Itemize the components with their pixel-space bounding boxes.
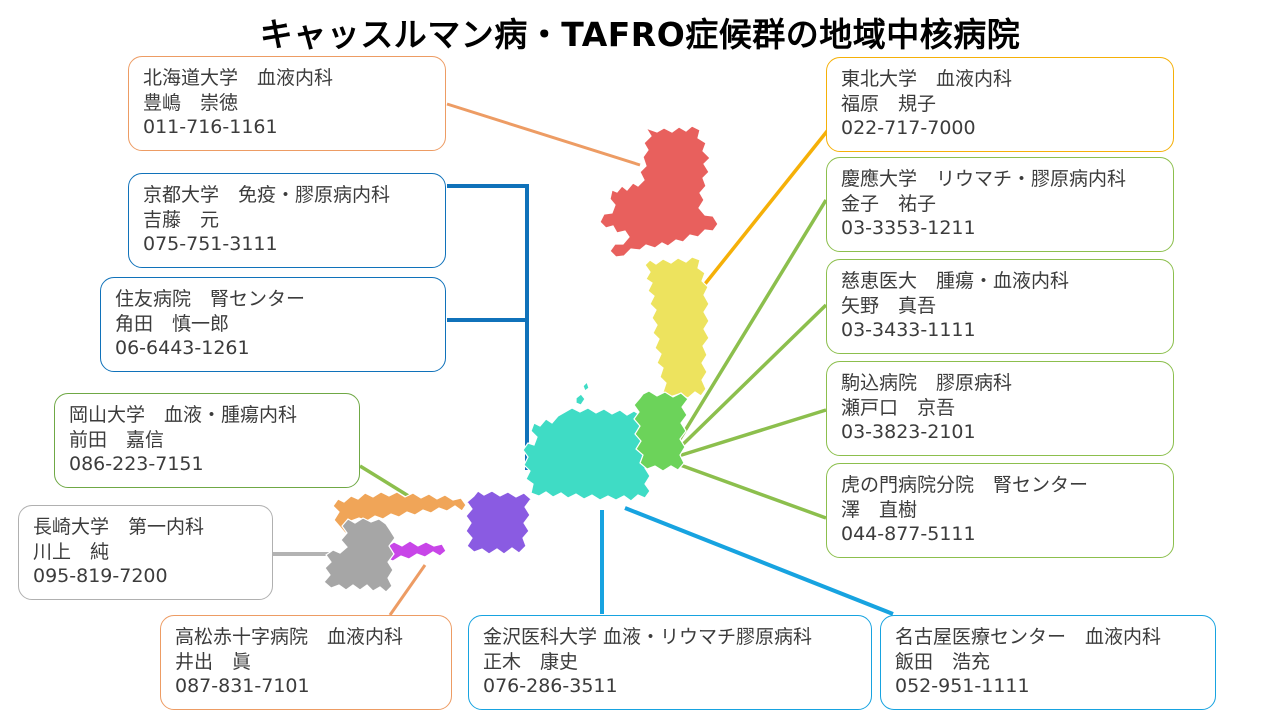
hospital-institution: 駒込病院 膠原病科 [841, 371, 1159, 396]
hospital-card-keio[interactable]: 慶應大学 リウマチ・膠原病内科 金子 祐子 03-3353-1211 [826, 157, 1174, 252]
connector-hokudai [447, 104, 640, 165]
hospital-tel: 076-286-3511 [483, 674, 857, 699]
hospital-doctor: 飯田 浩充 [895, 650, 1201, 675]
hospital-card-jikei[interactable]: 慈恵医大 腫瘍・血液内科 矢野 真吾 03-3433-1111 [826, 259, 1174, 354]
hospital-doctor: 矢野 真吾 [841, 294, 1159, 319]
hospital-doctor: 前田 嘉信 [69, 428, 345, 453]
hospital-tel: 087-831-7101 [175, 674, 437, 699]
hospital-card-sumitomo[interactable]: 住友病院 腎センター 角田 慎一郎 06-6443-1261 [100, 277, 446, 372]
region-kinki [466, 491, 531, 554]
hospital-tel: 075-751-3111 [143, 232, 431, 257]
hospital-card-komagome[interactable]: 駒込病院 膠原病科 瀬戸口 京吾 03-3823-2101 [826, 361, 1174, 456]
hospital-doctor: 澤 直樹 [841, 498, 1159, 523]
hospital-doctor: 吉藤 元 [143, 208, 431, 233]
hospital-institution: 慶應大学 リウマチ・膠原病内科 [841, 167, 1159, 192]
hospital-institution: 東北大学 血液内科 [841, 67, 1159, 92]
hospital-tel: 086-223-7151 [69, 452, 345, 477]
hospital-tel: 03-3823-2101 [841, 420, 1159, 445]
region-tohoku [645, 257, 709, 398]
hospital-tel: 044-877-5111 [841, 522, 1159, 547]
hospital-card-hokudai[interactable]: 北海道大学 血液内科 豊嶋 崇徳 011-716-1161 [128, 56, 446, 151]
hospital-tel: 03-3353-1211 [841, 216, 1159, 241]
hospital-card-tohokudai[interactable]: 東北大学 血液内科 福原 規子 022-717-7000 [826, 57, 1174, 152]
hospital-institution: 長崎大学 第一内科 [33, 515, 258, 540]
region-hokkaido [600, 126, 718, 257]
hospital-tel: 095-819-7200 [33, 564, 258, 589]
hospital-card-kyodai[interactable]: 京都大学 免疫・膠原病内科 吉藤 元 075-751-3111 [128, 173, 446, 268]
hospital-card-takamatsu[interactable]: 高松赤十字病院 血液内科 井出 眞 087-831-7101 [160, 615, 452, 710]
hospital-institution: 岡山大学 血液・腫瘍内科 [69, 403, 345, 428]
hospital-doctor: 福原 規子 [841, 92, 1159, 117]
hospital-institution: 金沢医科大学 血液・リウマチ膠原病科 [483, 625, 857, 650]
hospital-tel: 022-717-7000 [841, 116, 1159, 141]
region-kanto [634, 391, 688, 471]
hospital-institution: 住友病院 腎センター [115, 287, 431, 312]
hospital-card-toranomon[interactable]: 虎の門病院分院 腎センター 澤 直樹 044-877-5111 [826, 463, 1174, 558]
hospital-tel: 052-951-1111 [895, 674, 1201, 699]
hospital-doctor: 角田 慎一郎 [115, 312, 431, 337]
region-chubu [523, 408, 650, 501]
hospital-card-okayama[interactable]: 岡山大学 血液・腫瘍内科 前田 嘉信 086-223-7151 [54, 393, 360, 488]
slide-canvas: キャッスルマン病・TAFRO症候群の地域中核病院 [0, 0, 1280, 720]
hospital-doctor: 正木 康史 [483, 650, 857, 675]
connector-takamatsu [390, 565, 425, 615]
hospital-tel: 06-6443-1261 [115, 336, 431, 361]
region-islet-sado [576, 394, 585, 405]
hospital-doctor: 井出 眞 [175, 650, 437, 675]
connector-kyoto-sumitomo-bracket [447, 186, 527, 470]
hospital-institution: 名古屋医療センター 血液内科 [895, 625, 1201, 650]
hospital-institution: 京都大学 免疫・膠原病内科 [143, 183, 431, 208]
hospital-tel: 03-3433-1111 [841, 318, 1159, 343]
hospital-card-nagoya[interactable]: 名古屋医療センター 血液内科 飯田 浩充 052-951-1111 [880, 615, 1216, 710]
hospital-tel: 011-716-1161 [143, 115, 431, 140]
region-kyushu [324, 518, 395, 592]
region-islet-small [583, 382, 589, 391]
hospital-institution: 慈恵医大 腫瘍・血液内科 [841, 269, 1159, 294]
hospital-institution: 虎の門病院分院 腎センター [841, 473, 1159, 498]
hospital-doctor: 川上 純 [33, 540, 258, 565]
hospital-card-nagasaki[interactable]: 長崎大学 第一内科 川上 純 095-819-7200 [18, 505, 273, 600]
hospital-doctor: 豊嶋 崇徳 [143, 91, 431, 116]
hospital-institution: 北海道大学 血液内科 [143, 66, 431, 91]
hospital-card-kanazawa[interactable]: 金沢医科大学 血液・リウマチ膠原病科 正木 康史 076-286-3511 [468, 615, 872, 710]
hospital-doctor: 瀬戸口 京吾 [841, 396, 1159, 421]
hospital-doctor: 金子 祐子 [841, 192, 1159, 217]
connector-toranomon [672, 462, 826, 518]
hospital-institution: 高松赤十字病院 血液内科 [175, 625, 437, 650]
